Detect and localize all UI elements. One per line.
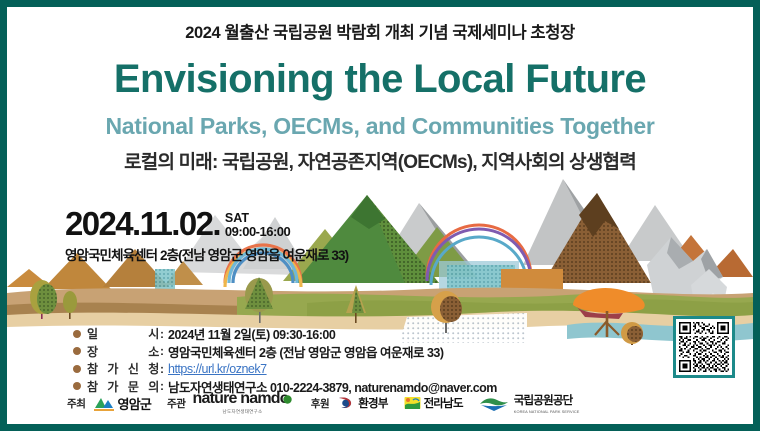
sponsor-sub-2: KOREA NATIONAL PARK SERVICE [514, 409, 580, 414]
info-value-datetime: 2024년 11월 2일(토) 09:30-16:00 [168, 324, 335, 343]
poster-root: 2024 월출산 국립공원 박람회 개최 기념 국제세미나 초청장 Envisi… [0, 0, 760, 431]
info-label: 일시 [87, 325, 159, 342]
host-role-label: 주최 [67, 396, 86, 411]
info-colon: : [160, 344, 164, 358]
page-title: Envisioning the Local Future [7, 57, 753, 102]
bullet-icon [73, 347, 81, 355]
list-item: 일시 : 2024년 11월 2일(토) 09:30-16:00 [73, 325, 497, 343]
sponsor-name-1: 전라남도 [424, 395, 463, 411]
info-list: 일시 : 2024년 11월 2일(토) 09:30-16:00 장소 : 영암… [73, 325, 497, 395]
subtitle-english: National Parks, OECMs, and Communities T… [7, 113, 753, 140]
date-side: SAT 09:00-16:00 [225, 212, 290, 239]
info-label: 장소 [87, 343, 159, 360]
organizer-role-label: 주관 [167, 396, 186, 411]
sponsor-role-label: 후원 [311, 396, 330, 411]
event-time: 09:00-16:00 [225, 225, 290, 239]
info-colon: : [160, 327, 164, 341]
venue-line: 영암국민체육센터 2층(전남 영암군 영암읍 여운재로 33) [65, 244, 348, 264]
info-colon: : [160, 362, 164, 376]
jeollanamdo-icon [404, 396, 421, 411]
logo-nature-namdo: nature namdo 남도자연생태연구소 [193, 391, 295, 415]
logo-korea-national-park-service: 국립공원공단 KOREA NATIONAL PARK SERVICE [479, 392, 580, 414]
logo-ministry-of-environment: 환경부 [336, 395, 387, 412]
logo-yeongam-gun: 영암군 [93, 394, 151, 413]
list-item: 장소 : 영암국민체육센터 2층 (전남 영암군 영암읍 여운재로 33) [73, 343, 497, 361]
footer-logos: 주최 영암군 주관 nature namdo 남도자연생태연구소 후원 [7, 388, 753, 418]
knps-mountain-icon [479, 395, 509, 412]
info-label: 참가신청 [87, 360, 159, 377]
registration-link[interactable]: https://url.kr/oznek7 [168, 362, 267, 376]
date-row: 2024.11.02. SAT 09:00-16:00 [65, 207, 348, 240]
logo-jeollanamdo: 전라남도 [404, 395, 463, 411]
bullet-icon [73, 330, 81, 338]
subtitle-korean: 로컬의 미래: 국립공원, 자연공존지역(OECMs), 지역사회의 상생협력 [7, 147, 753, 174]
event-kicker: 2024 월출산 국립공원 박람회 개최 기념 국제세미나 초청장 [7, 19, 753, 43]
organizer-sub: 남도자연생태연구소 [223, 409, 263, 415]
organizer-name: nature namdo [193, 391, 289, 407]
date-block: 2024.11.02. SAT 09:00-16:00 영암국민체육센터 2층(… [65, 207, 348, 264]
event-date: 2024.11.02. [65, 207, 220, 240]
bullet-icon [73, 365, 81, 373]
government-taegeuk-icon [336, 395, 355, 412]
namdo-leaf-icon [283, 395, 292, 404]
qr-code[interactable] [673, 316, 735, 378]
info-value-venue: 영암국민체육센터 2층 (전남 영암군 영암읍 여운재로 33) [168, 342, 444, 361]
sponsor-name-2: 국립공원공단 [514, 392, 573, 408]
sponsor-name-0: 환경부 [358, 395, 387, 411]
list-item: 참가신청 : https://url.kr/oznek7 [73, 360, 497, 378]
yeongam-mountain-icon [93, 395, 115, 412]
qr-code-icon [679, 322, 729, 372]
host-name: 영암군 [118, 394, 151, 413]
